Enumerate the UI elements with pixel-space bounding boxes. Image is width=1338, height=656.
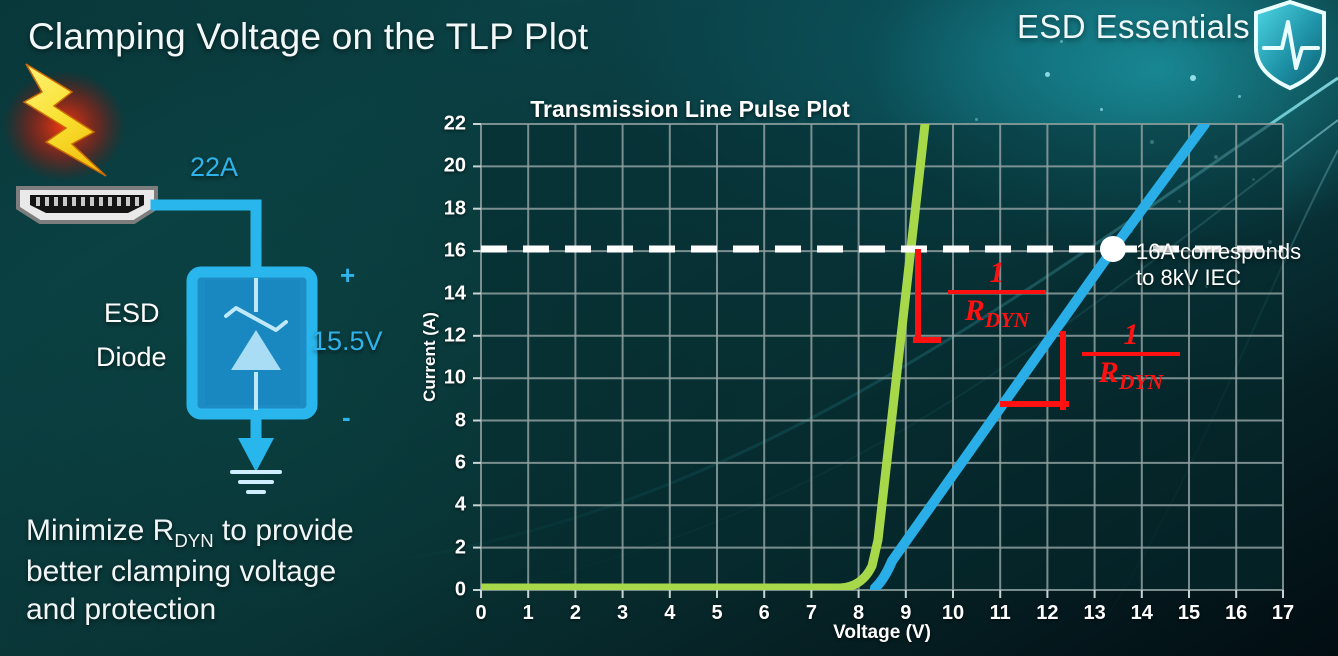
y-tick-label: 22 (0, 113, 473, 136)
x-tick-label: 16 (1225, 602, 1247, 625)
x-tick-label: 1 (523, 602, 534, 625)
y-tick-label: 4 (0, 494, 473, 517)
fraction-bar (1082, 352, 1180, 356)
clamping-point-marker (1100, 236, 1126, 262)
x-tick-label: 7 (806, 602, 817, 625)
x-tick-label: 13 (1083, 602, 1105, 625)
x-tick-label: 5 (711, 602, 722, 625)
tlp-chart: Transmission Line Pulse Plot (0, 0, 1338, 656)
x-tick-label: 2 (570, 602, 581, 625)
fraction-numerator: 1 (948, 258, 1046, 288)
clamping-point-callout: 16A corresponds to 8kV IEC (1136, 239, 1301, 291)
x-tick-label: 6 (759, 602, 770, 625)
y-tick-label: 2 (0, 536, 473, 559)
x-tick-label: 10 (942, 602, 964, 625)
x-axis-label: Voltage (V) (833, 622, 931, 644)
y-tick-label: 12 (0, 324, 473, 347)
x-tick-label: 4 (664, 602, 675, 625)
callout-line-2: to 8kV IEC (1136, 265, 1301, 291)
slope-fraction-low-rdyn: 1 RDYN (948, 258, 1046, 332)
y-tick-label: 6 (0, 451, 473, 474)
fraction-denominator: RDYN (948, 295, 1046, 332)
x-tick-label: 3 (617, 602, 628, 625)
x-tick-marks (481, 590, 1283, 598)
x-tick-label: 0 (475, 602, 486, 625)
slide-canvas: Clamping Voltage on the TLP Plot ESD Ess… (0, 0, 1338, 656)
y-tick-label: 16 (0, 240, 473, 263)
x-tick-label: 15 (1178, 602, 1200, 625)
denominator-subscript: DYN (985, 308, 1029, 332)
x-tick-label: 12 (1036, 602, 1058, 625)
y-tick-label: 0 (0, 579, 473, 602)
fraction-bar (948, 290, 1046, 294)
y-tick-label: 20 (0, 155, 473, 178)
fraction-numerator: 1 (1082, 320, 1180, 350)
denominator-base: R (965, 294, 985, 327)
y-tick-marks (473, 124, 481, 590)
x-tick-label: 14 (1131, 602, 1153, 625)
denominator-base: R (1099, 356, 1119, 389)
fraction-denominator: RDYN (1082, 357, 1180, 394)
y-tick-label: 14 (0, 282, 473, 305)
x-tick-label: 11 (990, 602, 1011, 625)
callout-line-1: 16A corresponds (1136, 239, 1301, 265)
y-tick-label: 8 (0, 409, 473, 432)
slope-fraction-high-rdyn: 1 RDYN (1082, 320, 1180, 394)
x-tick-label: 17 (1272, 602, 1294, 625)
y-tick-label: 18 (0, 197, 473, 220)
y-tick-label: 10 (0, 367, 473, 390)
denominator-subscript: DYN (1119, 370, 1163, 394)
y-axis-label: Current (A) (420, 312, 440, 402)
